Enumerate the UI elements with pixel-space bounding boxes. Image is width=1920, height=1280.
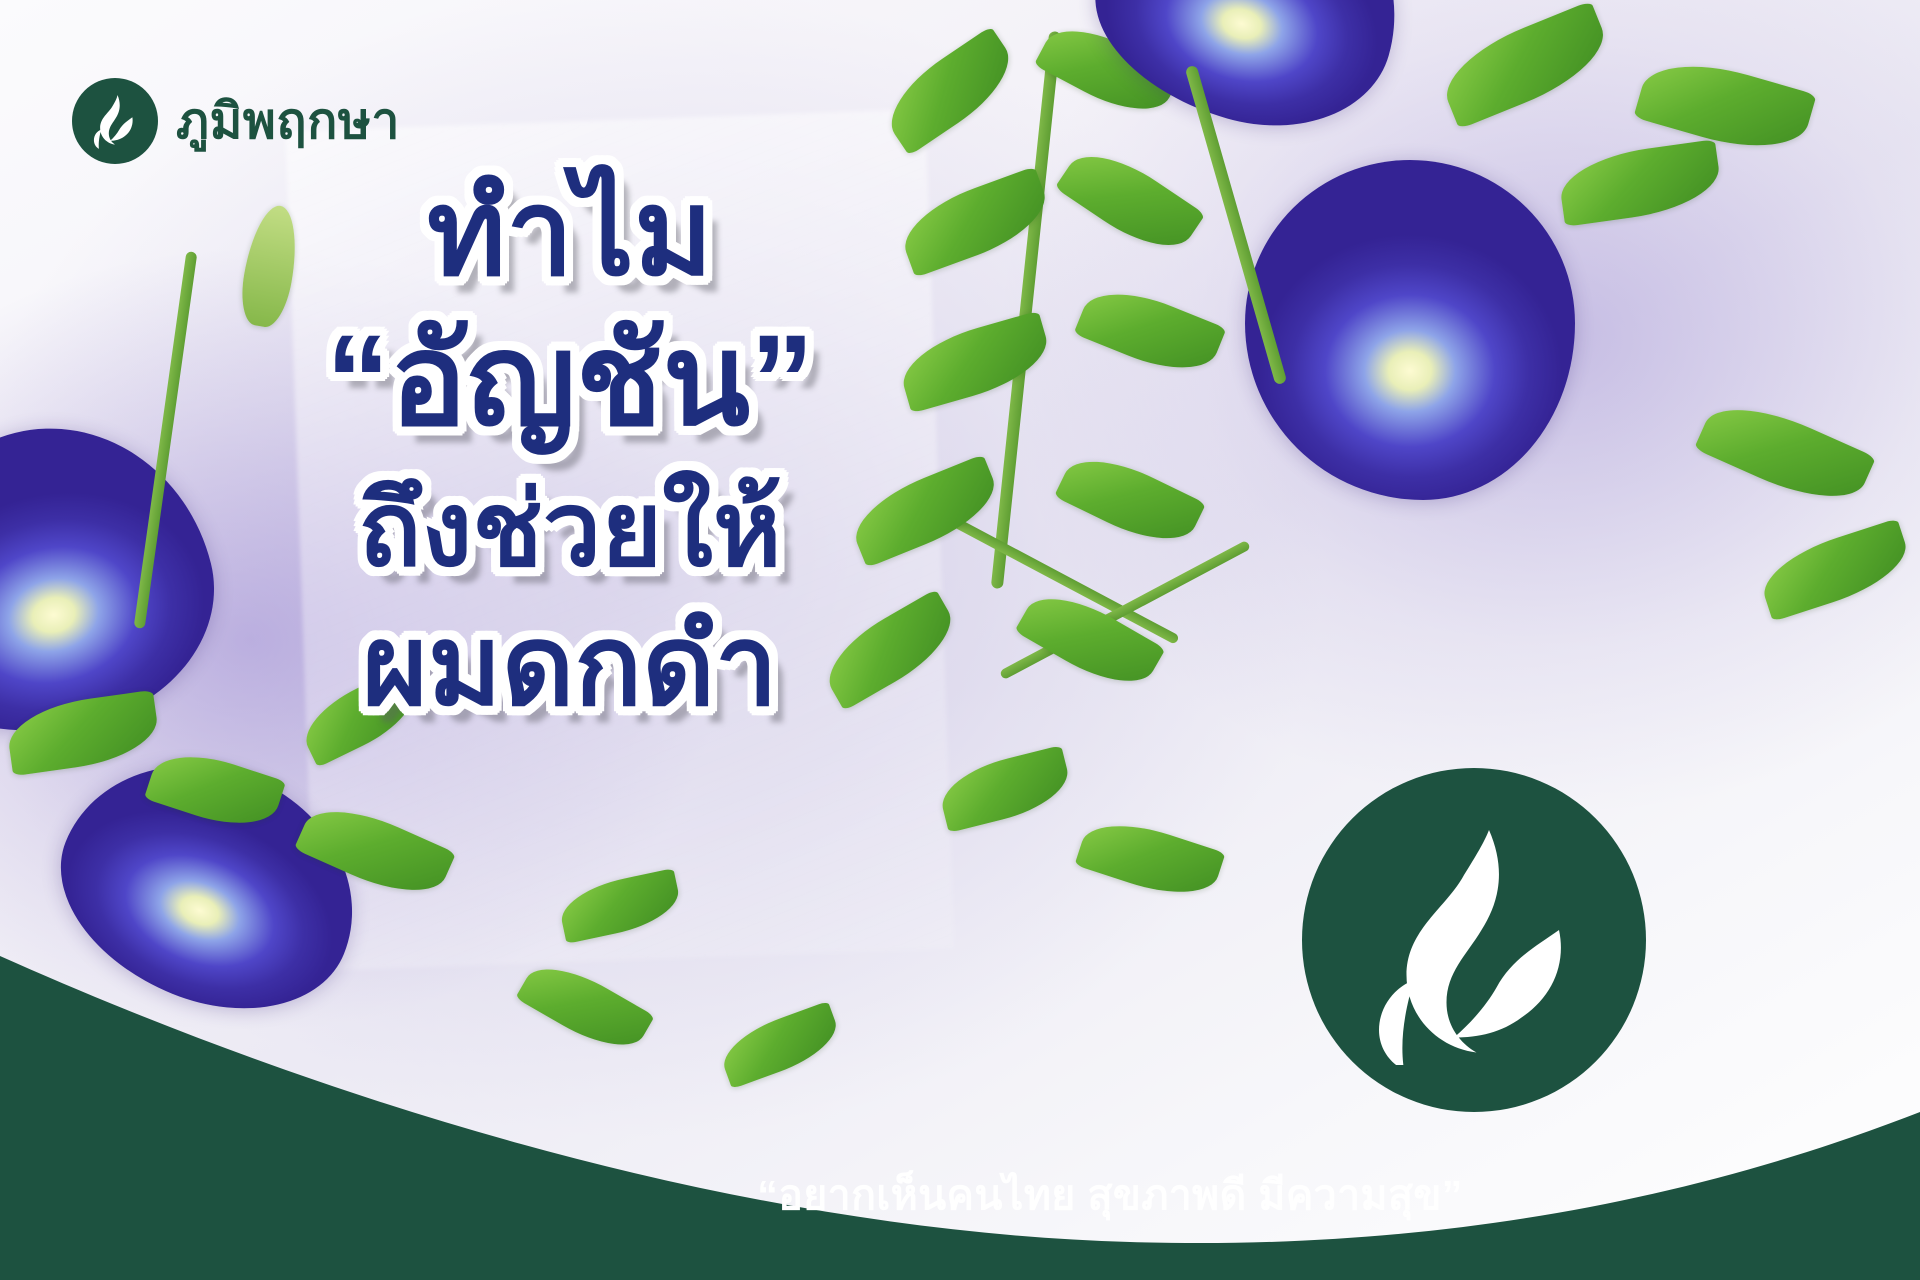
leaf-flame-icon bbox=[1349, 815, 1599, 1065]
leaf-flame-icon bbox=[72, 78, 158, 164]
brand-seal-badge[interactable] bbox=[1302, 768, 1646, 1112]
brand-name: ภูมิพฤกษา bbox=[176, 96, 400, 146]
headline-line-1: ทำไม bbox=[250, 170, 890, 297]
headline-line-3: ถึงช่วยให้ bbox=[250, 475, 890, 585]
promo-banner: ภูมิพฤกษา ทำไม “อัญชัน” ถึงช่วยให้ ผมดกด… bbox=[0, 0, 1920, 1280]
headline-line-2: “อัญชัน” bbox=[250, 313, 890, 449]
brand-logo[interactable]: ภูมิพฤกษา bbox=[72, 78, 400, 164]
headline: ทำไม “อัญชัน” ถึงช่วยให้ ผมดกดำ bbox=[250, 170, 890, 726]
tagline: “อยากเห็นคนไทย สุขภาพดี มีความสุข” bbox=[0, 1163, 1920, 1228]
headline-line-4: ผมดกดำ bbox=[250, 607, 890, 726]
